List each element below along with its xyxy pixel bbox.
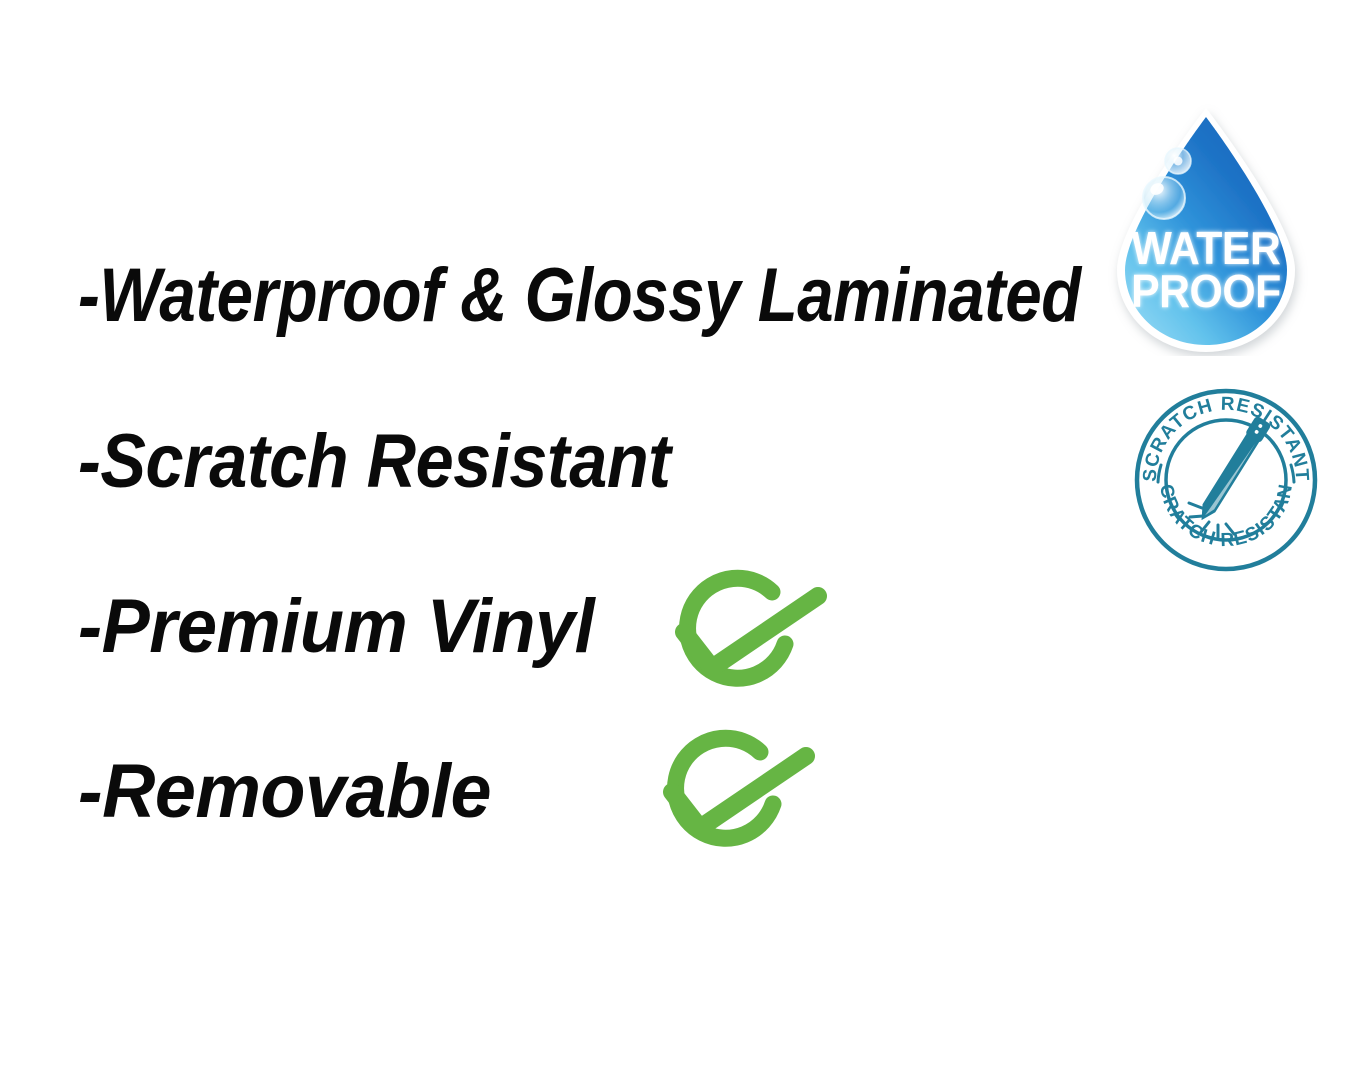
waterproof-label-line2: PROOF xyxy=(1131,267,1281,318)
check-circle-removable xyxy=(628,718,828,868)
water-bubble-large-icon xyxy=(1143,177,1185,219)
check-stroke xyxy=(684,596,818,668)
check-circle-icon xyxy=(672,738,806,838)
knife-icon xyxy=(1194,415,1272,525)
scratch-resistant-badge: SCRATCH RESISTANT SCRATCH RESISTANT xyxy=(1133,387,1319,573)
check-circle-premium-vinyl xyxy=(640,558,840,708)
feature-item-premium-vinyl: -Premium Vinyl xyxy=(78,589,594,665)
check-stroke xyxy=(672,756,806,828)
waterproof-badge: WATER PROOF xyxy=(1103,104,1325,356)
check-circle-icon xyxy=(684,578,818,678)
feature-item-waterproof-glossy-laminated: -Waterproof & Glossy Laminated xyxy=(78,258,1081,334)
feature-item-removable: -Removable xyxy=(78,754,491,830)
infographic-canvas: -Waterproof & Glossy Laminated -Scratch … xyxy=(0,0,1359,1080)
feature-item-scratch-resistant: -Scratch Resistant xyxy=(78,424,671,500)
